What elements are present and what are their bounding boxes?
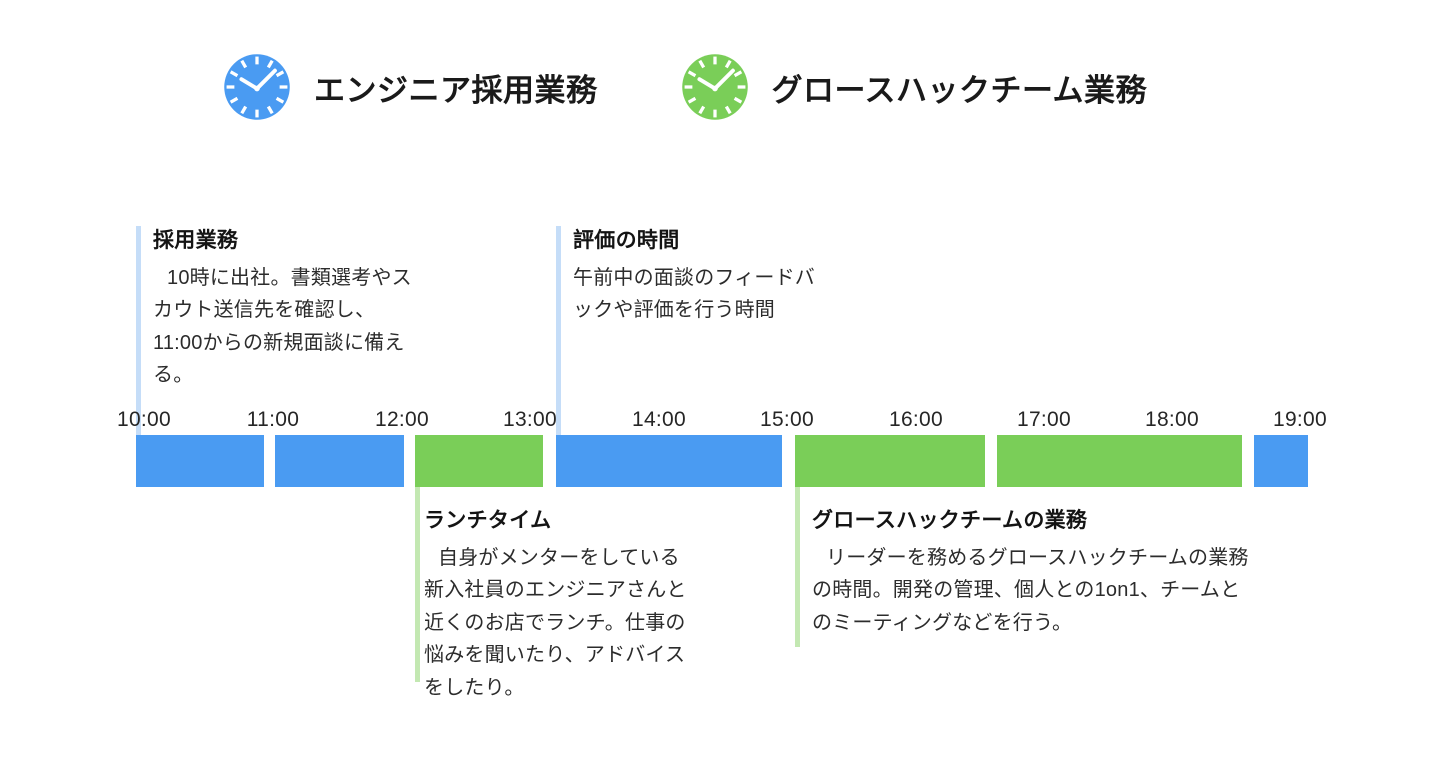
timeline-segment[interactable]: [997, 435, 1242, 487]
connector-evaluation: [556, 226, 561, 435]
connector-lunch: [415, 487, 420, 682]
callout-title: 採用業務: [153, 224, 415, 254]
callout-title: ランチタイム: [424, 504, 698, 534]
connector-recruiting-morning: [136, 226, 141, 435]
tick-label-1800: 18:00: [1145, 408, 1199, 432]
callout-body: 10時に出社。書類選考やスカウト送信先を確認し、11:00からの新規面談に備える…: [153, 262, 415, 392]
callout-evaluation: 評価の時間 午前中の面談のフィードバックや評価を行う時間: [573, 224, 827, 327]
callout-recruiting-morning: 採用業務 10時に出社。書類選考やスカウト送信先を確認し、11:00からの新規面…: [153, 224, 415, 392]
tick-label-1000: 10:00: [117, 408, 171, 432]
callout-body: 午前中の面談のフィードバックや評価を行う時間: [573, 262, 827, 327]
tick-label-1900: 19:00: [1273, 408, 1327, 432]
tick-label-1100: 11:00: [247, 408, 300, 432]
tick-label-1500: 15:00: [760, 408, 814, 432]
tick-label-1200: 12:00: [375, 408, 429, 432]
connector-growth-hack: [795, 487, 800, 647]
timeline-segment[interactable]: [136, 435, 264, 487]
callout-body: リーダーを務めるグロースハックチームの業務の時間。開発の管理、個人との1on1、…: [812, 542, 1260, 639]
tick-label-1300: 13:00: [503, 408, 557, 432]
callout-title: グロースハックチームの業務: [812, 504, 1260, 534]
callout-body: 自身がメンターをしている新入社員のエンジニアさんと近くのお店でランチ。仕事の悩み…: [424, 542, 698, 704]
timeline-segment[interactable]: [795, 435, 985, 487]
timeline-segment[interactable]: [275, 435, 404, 487]
tick-label-1400: 14:00: [632, 408, 686, 432]
timeline-segment[interactable]: [1254, 435, 1308, 487]
timeline-segment[interactable]: [556, 435, 782, 487]
timeline-segment[interactable]: [415, 435, 543, 487]
callout-title: 評価の時間: [573, 224, 827, 254]
callout-growth-hack: グロースハックチームの業務 リーダーを務めるグロースハックチームの業務の時間。開…: [812, 504, 1260, 639]
tick-label-1700: 17:00: [1017, 408, 1071, 432]
tick-label-1600: 16:00: [889, 408, 943, 432]
callout-lunch: ランチタイム 自身がメンターをしている新入社員のエンジニアさんと近くのお店でラン…: [424, 504, 698, 704]
